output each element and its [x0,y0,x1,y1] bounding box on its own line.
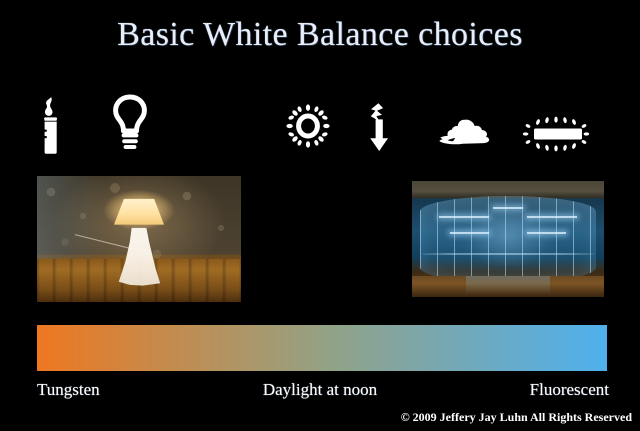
candle-icon [36,96,66,154]
photo-tungsten-wall-shadow [37,176,106,260]
photo-fluorescent-tube [439,216,489,218]
photo-fluorescent-tube [450,232,488,234]
photo-fluorescent-rail [422,253,595,255]
light-bulb-icon [110,93,150,155]
sun-icon [286,104,330,148]
scale-label-fluorescent: Fluorescent [530,380,609,400]
copyright-notice: © 2009 Jeffery Jay Luhn All Rights Reser… [401,410,632,425]
white-balance-slide: Basic White Balance choices [0,0,640,431]
photo-fluorescent-tube [527,216,577,218]
fluorescent-tube-icon [514,116,598,152]
flash-icon [364,102,392,152]
photo-fluorescent-reflection [466,276,551,295]
photo-fluorescent [412,181,604,297]
photo-tungsten [37,176,241,302]
photo-fluorescent-tube [493,207,524,209]
page-title: Basic White Balance choices [0,16,640,54]
photo-fluorescent-mullions [420,196,597,283]
photo-fluorescent-tube [527,232,565,234]
cloud-icon [438,118,496,148]
color-temperature-gradient-bar [37,325,607,371]
